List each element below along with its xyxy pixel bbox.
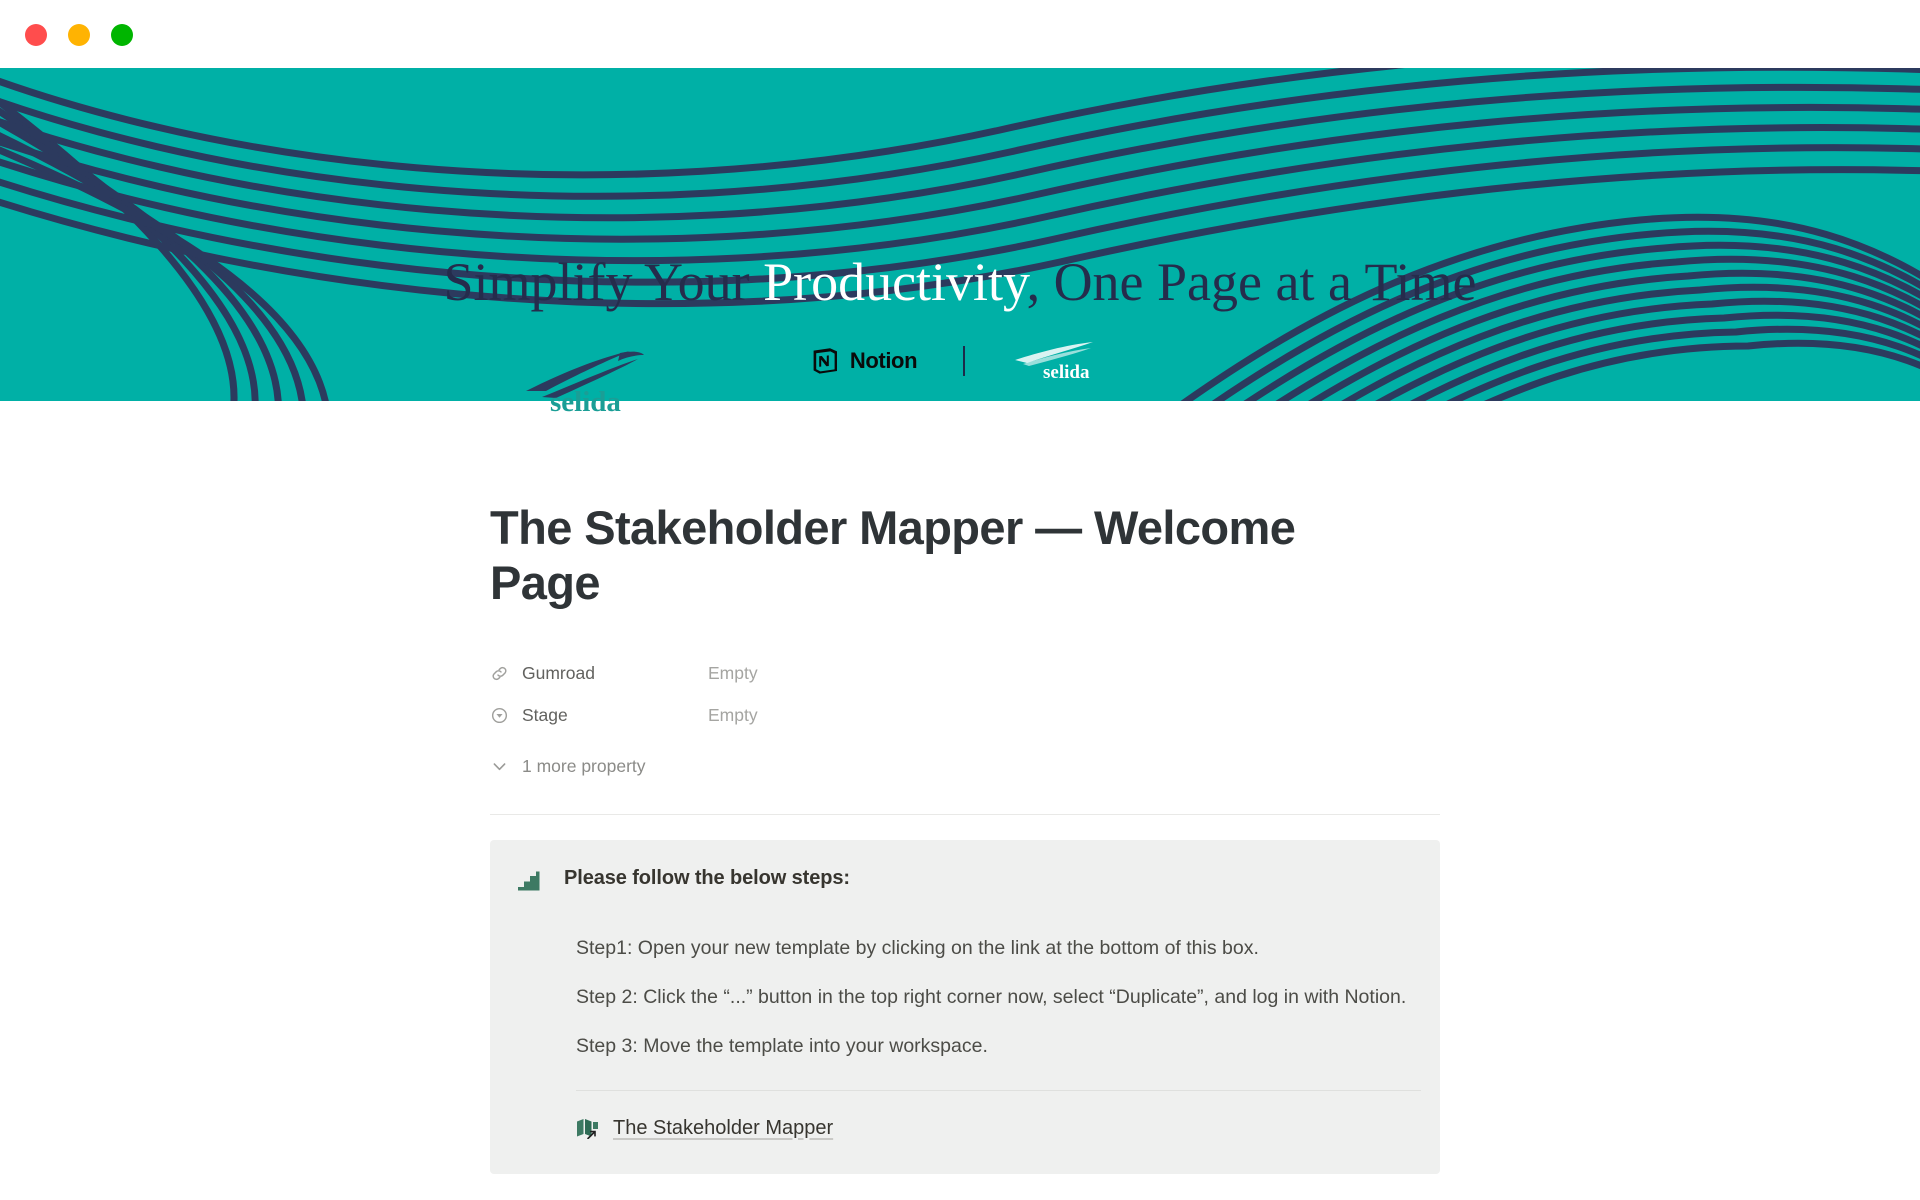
property-value-stage[interactable]: Empty bbox=[708, 705, 758, 726]
callout-separator bbox=[576, 1090, 1421, 1091]
content-divider bbox=[490, 814, 1440, 815]
property-label-gumroad[interactable]: Gumroad bbox=[490, 663, 708, 684]
stairs-icon bbox=[518, 871, 540, 891]
selida-wordmark: selida bbox=[550, 386, 621, 415]
maximize-window-button[interactable] bbox=[111, 24, 133, 46]
logo-divider bbox=[963, 346, 965, 376]
instructions-callout: Please follow the below steps: Step1: Op… bbox=[490, 840, 1440, 1174]
page-title: The Stakeholder Mapper — Welcome Page bbox=[490, 501, 1400, 611]
property-name: Stage bbox=[522, 705, 568, 726]
hero-logo-lockup: Notion selida bbox=[0, 340, 1920, 382]
hero-headline: Simplify Your Productivity, One Page at … bbox=[0, 255, 1920, 309]
notion-cube-icon bbox=[809, 345, 841, 377]
step-line: Step1: Open your new template by clickin… bbox=[576, 933, 1408, 963]
callout-steps: Step1: Open your new template by clickin… bbox=[518, 933, 1408, 1062]
select-icon bbox=[490, 706, 509, 725]
notion-wordmark: Notion bbox=[850, 348, 917, 374]
page-properties: Gumroad Empty Stage Empty 1 more bbox=[490, 653, 1440, 788]
map-link-icon bbox=[576, 1117, 600, 1139]
step-line: Step 3: Move the template into your work… bbox=[576, 1031, 1408, 1061]
chevron-down-icon bbox=[490, 757, 509, 776]
selida-logo-main: selida bbox=[520, 345, 665, 415]
more-properties-label: 1 more property bbox=[522, 756, 646, 777]
property-name: Gumroad bbox=[522, 663, 595, 684]
link-icon bbox=[490, 664, 509, 683]
property-row-gumroad[interactable]: Gumroad Empty bbox=[490, 653, 1440, 695]
template-link[interactable]: The Stakeholder Mapper bbox=[613, 1117, 833, 1140]
svg-text:selida: selida bbox=[1043, 362, 1090, 382]
selida-brand-mark: selida bbox=[520, 345, 665, 415]
hero-banner: Simplify Your Productivity, One Page at … bbox=[0, 68, 1920, 401]
step-line: Step 2: Click the “...” button in the to… bbox=[576, 982, 1408, 1012]
headline-segment-2: , One Page at a Time bbox=[1027, 252, 1477, 312]
callout-link-row[interactable]: The Stakeholder Mapper bbox=[576, 1117, 1408, 1140]
callout-title: Please follow the below steps: bbox=[564, 867, 850, 890]
window-titlebar bbox=[0, 0, 1920, 70]
callout-header: Please follow the below steps: bbox=[518, 867, 1408, 891]
headline-segment-1: Simplify Your bbox=[443, 252, 763, 312]
notion-logo: Notion bbox=[809, 345, 917, 377]
selida-logo-small: selida bbox=[1011, 340, 1111, 382]
headline-highlight: Productivity bbox=[763, 252, 1027, 312]
traffic-lights bbox=[25, 24, 133, 46]
content-column: The Stakeholder Mapper — Welcome Page Gu… bbox=[490, 401, 1440, 1174]
selida-swoosh-icon: selida bbox=[1011, 340, 1111, 382]
close-window-button[interactable] bbox=[25, 24, 47, 46]
property-label-stage[interactable]: Stage bbox=[490, 705, 708, 726]
more-properties-toggle[interactable]: 1 more property bbox=[490, 746, 1440, 788]
property-value-gumroad[interactable]: Empty bbox=[708, 663, 758, 684]
minimize-window-button[interactable] bbox=[68, 24, 90, 46]
property-row-stage[interactable]: Stage Empty bbox=[490, 695, 1440, 737]
